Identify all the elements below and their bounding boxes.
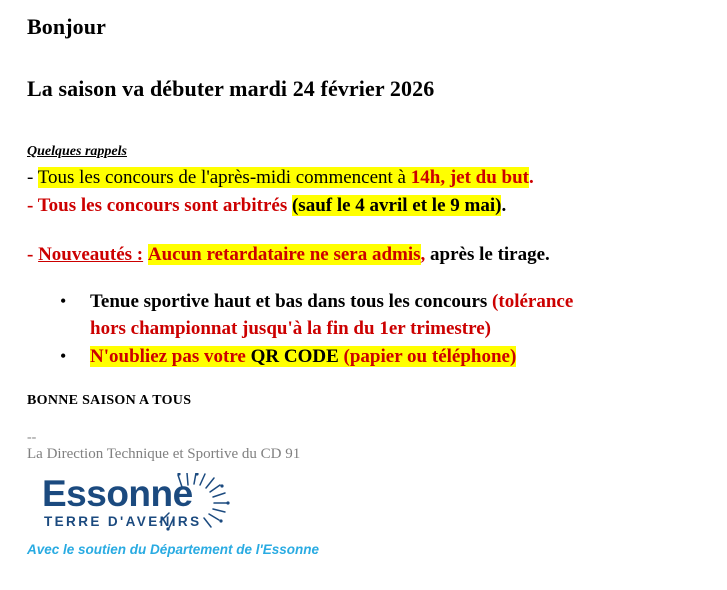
paragraph-1-highlight-red: 14h, jet du but (411, 167, 529, 188)
bullet-2-line-1: N'oubliez pas votre QR CODE (papier ou t… (90, 346, 516, 367)
reminder-paragraph-2: - Tous les concours sont arbitrés (sauf … (27, 192, 717, 219)
season-start-heading: La saison va débuter mardi 24 février 20… (27, 76, 434, 102)
paragraph-2-dash: - (27, 195, 38, 216)
paragraph-1-dash: - (27, 167, 38, 188)
paragraph-3-highlight-red: Aucun retardataire ne sera admis (148, 244, 421, 265)
greeting-text: Bonjour (27, 14, 106, 40)
bullet-1-red-text: (tolérance (492, 291, 573, 312)
bullet-marker-icon: • (60, 288, 66, 315)
reminder-paragraph-1: - Tous les concours de l'après-midi comm… (27, 164, 717, 191)
logo-tagline-text: TERRE D'AVENIRS (44, 514, 201, 529)
paragraph-3-dash: - (27, 244, 38, 265)
essonne-logo: Essonne TERRE D'AVENIRS (42, 473, 242, 533)
reminders-paragraphs: - Tous les concours de l'après-midi comm… (27, 164, 717, 268)
reminder-paragraph-3: - Nouveautés : Aucun retardataire ne ser… (27, 241, 717, 268)
bullet-1-line-1: Tenue sportive haut et bas dans tous les… (90, 291, 573, 312)
list-item: • N'oubliez pas votre QR CODE (papier ou… (27, 343, 727, 370)
logo-wordmark-text: Essonne (42, 473, 193, 514)
paragraph-1-tail: . (529, 167, 534, 188)
support-tagline: Avec le soutien du Département de l'Esso… (27, 542, 319, 557)
bullet-1-black-text: Tenue sportive haut et bas dans tous les… (90, 291, 492, 312)
email-body: Bonjour La saison va débuter mardi 24 fé… (0, 0, 727, 590)
list-item: • Tenue sportive haut et bas dans tous l… (27, 288, 727, 342)
essonne-logo-graphic: Essonne TERRE D'AVENIRS (42, 473, 242, 533)
paragraph-2-tail: . (501, 195, 506, 216)
bullet-2-red-text: N'oubliez pas votre (90, 346, 251, 367)
paragraph-3-black-tail: après le tirage. (425, 244, 550, 265)
closing-text: BONNE SAISON A TOUS (27, 393, 191, 409)
signature-text: La Direction Technique et Sportive du CD… (27, 446, 300, 463)
reminders-title: Quelques rappels (27, 144, 127, 160)
bullet-1-line-2: hors championnat jusqu'à la fin du 1er t… (90, 315, 727, 342)
signature-separator: -- (27, 430, 36, 446)
essonne-wordmark-icon: Essonne TERRE D'AVENIRS (42, 473, 201, 529)
bullet-2-red-text-2: (papier ou téléphone) (344, 346, 517, 367)
paragraph-2-red-text: Tous les concours sont arbitrés (38, 195, 292, 216)
bullet-2-qr-code-text: QR CODE (251, 346, 344, 367)
paragraph-3-label-nouveautes: Nouveautés : (38, 244, 143, 265)
bullet-list: • Tenue sportive haut et bas dans tous l… (27, 288, 727, 370)
paragraph-2-highlight-black: (sauf le 4 avril et le 9 mai) (292, 195, 501, 216)
bullet-marker-icon: • (60, 343, 66, 370)
paragraph-1-highlight-black: Tous les concours de l'après-midi commen… (38, 167, 411, 188)
